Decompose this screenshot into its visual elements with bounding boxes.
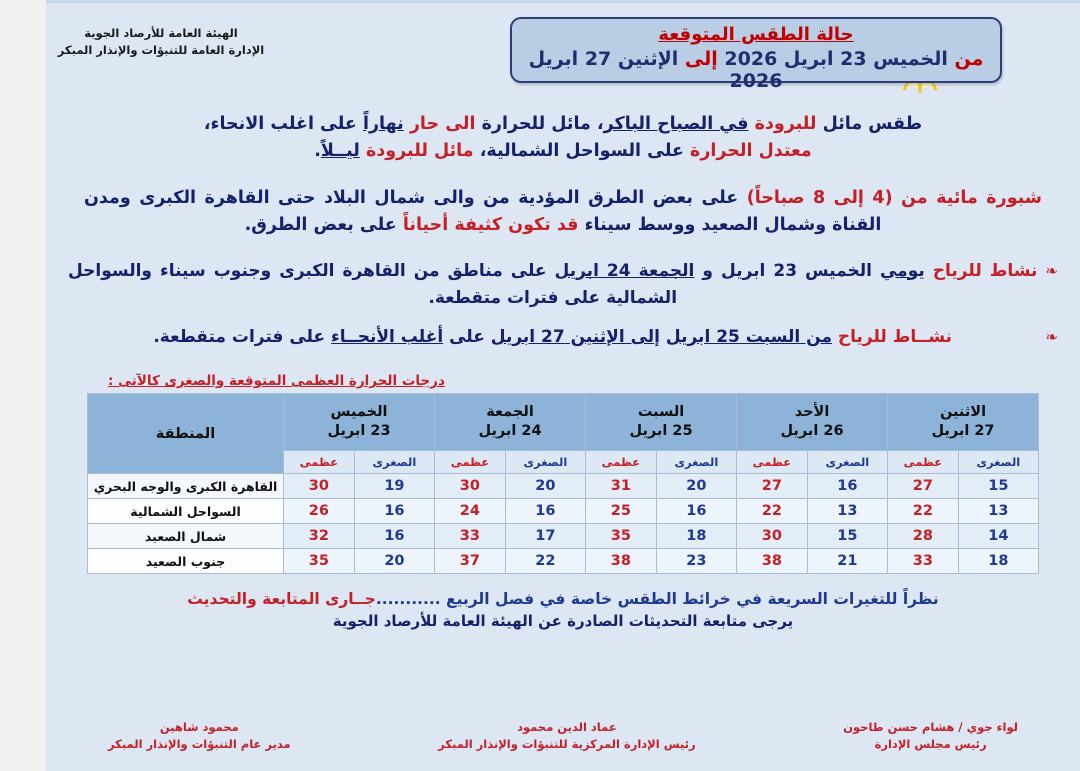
p1-seg-7: على اغلب الانحاء، [204,114,357,134]
day-date-3: 26 ابريل [737,422,887,442]
update-note: نظراً للتغيرات السريعة في خرائط الطقس خا… [46,590,1080,608]
row2-day0-max: 32 [284,524,355,549]
row0-day0-max: 30 [284,474,355,499]
day-name-3: الأحد [737,403,887,423]
row2-day0-min: 16 [354,524,434,549]
row3-day0-max: 35 [284,549,355,574]
temperature-table: الاثنين 27 ابريل الأحد 26 ابريل السبت 25… [87,393,1039,574]
row1-day0-max: 26 [284,499,355,524]
day-date-2: 25 ابريل [586,422,736,442]
row0-day2-max: 31 [586,474,657,499]
p1-seg-4: ، مائل للحرارة [482,114,604,134]
table-row: 14 28 15 30 18 35 17 33 16 32 شمال الصعي… [88,524,1039,549]
day-date-1: 24 ابريل [435,422,585,442]
region-column-header: المنطقة [88,394,284,474]
page-title: حالة الطقس المتوقعة [512,24,1000,45]
row2-region: شمال الصعيد [88,524,284,549]
row3-day4-min: 18 [958,549,1038,574]
b1-seg-5: الجمعة 24 ابريل [555,261,695,281]
p1-seg-5: الى حار [410,114,476,134]
p1-seg-8: معتدل الحرارة [690,141,812,161]
signature-block: لواء جوي / هشام حسن طاحون رئيس مجلس الإد… [46,719,1080,754]
row1-day1-max: 24 [435,499,506,524]
follow-updates-note: يرجى متابعة التحديثات الصادرة عن الهيئة … [46,612,1080,630]
mist-paragraph: شبورة مائية من (4 إلى 8 صباحاً) على بعض … [46,185,1080,239]
signature-chairman: لواء جوي / هشام حسن طاحون رئيس مجلس الإد… [843,719,1018,754]
row2-day1-min: 17 [505,524,585,549]
row2-day2-max: 35 [586,524,657,549]
b1-seg-2: يومي [880,261,925,281]
table-row: 13 22 13 22 16 25 16 24 16 26 السواحل ال… [88,499,1039,524]
p1-seg-12: . [314,141,321,161]
row0-day2-min: 20 [656,474,736,499]
p2-seg-1: شبورة مائية [936,188,1042,208]
max-label-4: عظمى [888,451,959,474]
day-name-0: الخميس [284,403,434,423]
forecast-date-range: من الخميس 23 ابريل 2026 إلى الإثنين 27 ا… [512,48,1000,92]
p1-seg-9: على السواحل الشمالية، [480,141,684,161]
agency-line-1: الهيئة العامة للأرصاد الجوية [46,25,276,42]
wind-bullet-1: ❧ نشاط للرياح يومي الخميس 23 ابريل و الج… [68,258,1058,312]
agency-name-block: الهيئة العامة للأرصاد الجوية الإدارة الع… [46,25,276,58]
row3-day2-max: 38 [586,549,657,574]
day-name-1: الجمعة [435,403,585,423]
row2-day3-max: 30 [737,524,808,549]
row3-day2-min: 23 [656,549,736,574]
b1-seg-1: نشاط للرياح [933,261,1038,281]
day-header-0: الخميس 23 ابريل [284,394,435,451]
row0-day4-max: 27 [888,474,959,499]
general-weather-paragraph: طقس مائل للبرودة في الصباح الباكر، مائل … [46,111,1080,165]
min-label-4: الصغرى [958,451,1038,474]
min-label-0: الصغرى [354,451,434,474]
row3-day1-min: 22 [505,549,585,574]
b1-seg-3: الخميس 23 ابريل [721,261,872,281]
poster-header: الهيئة العامة للأرصاد الجوية الإدارة الع… [46,3,1080,103]
day-header-1: الجمعة 24 ابريل [435,394,586,451]
b2-seg-6: على فترات متقطعة. [153,327,325,347]
date-range-to-label: إلى [685,48,718,70]
min-label-2: الصغرى [656,451,736,474]
row1-region: السواحل الشمالية [88,499,284,524]
p1-seg-11: ليــلاً [321,141,360,161]
signature-forecast-director-role: مدير عام التنبؤات والإنذار المبكر [108,736,291,753]
row0-day1-max: 30 [435,474,506,499]
signature-central-head-role: رئيس الإدارة المركزية للتنبؤات والإنذار … [438,736,695,753]
row1-day0-min: 16 [354,499,434,524]
p1-seg-6: نهاراً [363,114,404,134]
row0-region: القاهرة الكبرى والوجه البحري [88,474,284,499]
max-label-2: عظمى [586,451,657,474]
forecast-title-box: حالة الطقس المتوقعة من الخميس 23 ابريل 2… [510,17,1002,83]
row1-day4-max: 22 [888,499,959,524]
day-name-4: الاثنين [888,403,1038,423]
day-date-4: 27 ابريل [888,422,1038,442]
p1-seg-2: للبرودة [755,114,817,134]
p2-seg-2: من (4 إلى 8 صباحاً) [747,188,928,208]
update-note-part-1: نظراً للتغيرات السريعة في خرائط الطقس خا… [376,590,939,608]
p1-seg-10: مائل للبرودة [366,141,474,161]
p2-seg-5: على بعض الطرق. [245,215,397,235]
row1-day1-min: 16 [505,499,585,524]
b2-seg-1: نشــاط للرياح [838,327,952,347]
date-range-from-label: من [955,48,984,70]
four-diamond-bullet-icon-2: ❧ [1045,324,1058,350]
day-header-3: الأحد 26 ابريل [737,394,888,451]
b2-seg-2: من السبت 25 ابريل [666,327,832,347]
b2-seg-5: أغلب الأنحــاء [331,327,443,347]
wind-bullet-2: ❧ نشــاط للرياح من السبت 25 ابريل إلى ال… [68,324,1058,351]
temperature-table-caption: درجات الحرارة العظمى المتوقعة والصغرى كا… [46,373,1080,393]
row2-day1-max: 33 [435,524,506,549]
four-diamond-bullet-icon: ❧ [1045,258,1058,284]
signature-chairman-role: رئيس مجلس الإدارة [843,736,1018,753]
row0-day3-max: 27 [737,474,808,499]
table-row: 15 27 16 27 20 31 20 30 19 30 القاهرة ال… [88,474,1039,499]
p1-seg-3: في الصباح الباكر [604,114,749,134]
row1-day2-min: 16 [656,499,736,524]
p1-seg-1: طقس مائل [823,114,923,134]
row2-day2-min: 18 [656,524,736,549]
row2-day4-max: 28 [888,524,959,549]
signature-forecast-director-name: محمود شاهين [108,719,291,736]
min-label-3: الصغرى [807,451,887,474]
row0-day0-min: 19 [354,474,434,499]
table-row: 18 33 21 38 23 38 22 37 20 35 جنوب الصعي… [88,549,1039,574]
row3-day0-min: 20 [354,549,434,574]
max-label-0: عظمى [284,451,355,474]
p2-seg-4: قد تكون كثيفة أحياناً [403,215,579,235]
min-label-1: الصغرى [505,451,585,474]
b1-seg-4: و [702,261,713,281]
row2-day3-min: 15 [807,524,887,549]
forecast-poster: الهيئة العامة للأرصاد الجوية الإدارة الع… [46,0,1080,771]
row3-day3-min: 21 [807,549,887,574]
day-header-2: السبت 25 ابريل [586,394,737,451]
signature-chairman-name: لواء جوي / هشام حسن طاحون [843,719,1018,736]
row2-day4-min: 14 [958,524,1038,549]
row3-day1-max: 37 [435,549,506,574]
row1-day2-max: 25 [586,499,657,524]
date-range-start: الخميس 23 ابريل 2026 [724,48,947,70]
row3-day4-max: 33 [888,549,959,574]
row0-day1-min: 20 [505,474,585,499]
day-date-0: 23 ابريل [284,422,434,442]
row3-region: جنوب الصعيد [88,549,284,574]
signature-central-head: عماد الدين محمود رئيس الإدارة المركزية ل… [438,719,695,754]
wind-bullet-1-text: نشاط للرياح يومي الخميس 23 ابريل و الجمع… [68,258,1037,312]
signature-central-head-name: عماد الدين محمود [438,719,695,736]
signature-forecast-director: محمود شاهين مدير عام التنبؤات والإنذار ا… [108,719,291,754]
row1-day3-max: 22 [737,499,808,524]
update-note-part-2: جــارى المتابعة والتحديث [187,590,376,608]
day-name-2: السبت [586,403,736,423]
row3-day3-max: 38 [737,549,808,574]
table-header-row: الاثنين 27 ابريل الأحد 26 ابريل السبت 25… [88,394,1039,451]
row0-day3-min: 16 [807,474,887,499]
b2-seg-3: إلى الإثنين 27 ابريل [491,327,660,347]
row1-day3-min: 13 [807,499,887,524]
wind-bullet-list: ❧ نشاط للرياح يومي الخميس 23 ابريل و الج… [46,258,1080,352]
b2-seg-4: على [449,327,485,347]
max-label-3: عظمى [737,451,808,474]
agency-line-2: الإدارة العامة للتنبؤات والإنذار المبكر [46,42,276,59]
max-label-1: عظمى [435,451,506,474]
row1-day4-min: 13 [958,499,1038,524]
day-header-4: الاثنين 27 ابريل [888,394,1039,451]
wind-bullet-2-text: نشــاط للرياح من السبت 25 ابريل إلى الإث… [68,324,1037,351]
row0-day4-min: 15 [958,474,1038,499]
